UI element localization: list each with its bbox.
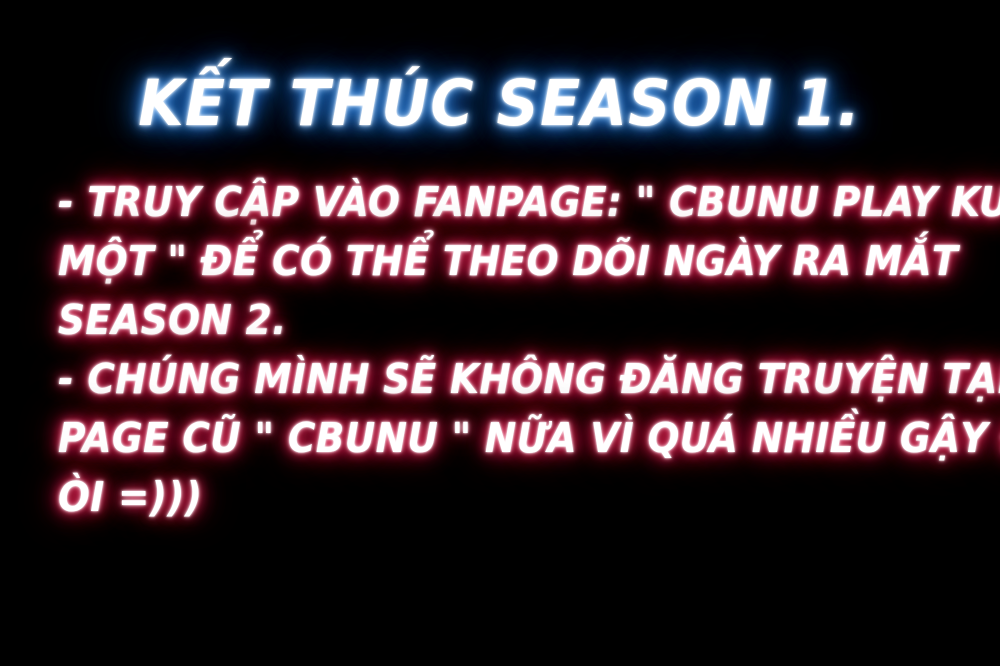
announcement-line-2: MỘT " ĐỂ CÓ THỂ THEO DÕI NGÀY RA MẮT [58, 232, 900, 291]
title-container: KẾT THÚC SEASON 1. [0, 72, 1000, 135]
announcement-line-3: SEASON 2. [58, 291, 900, 350]
announcement-page: KẾT THÚC SEASON 1. - TRUY CẬP VÀO FANPAG… [0, 0, 1000, 666]
announcement-body: - TRUY CẬP VÀO FANPAGE: " CBUNU PLAY KU … [58, 173, 978, 527]
announcement-line-5: PAGE CŨ " CBUNU " NỮA VÌ QUÁ NHIỀU GẬY Đ… [58, 409, 900, 468]
announcement-line-1: - TRUY CẬP VÀO FANPAGE: " CBUNU PLAY KU … [58, 173, 900, 232]
announcement-line-6: ÒI =))) [58, 468, 900, 527]
page-title: KẾT THÚC SEASON 1. [139, 72, 862, 135]
announcement-line-4: - CHÚNG MÌNH SẼ KHÔNG ĐĂNG TRUYỆN TẠI [58, 350, 900, 409]
